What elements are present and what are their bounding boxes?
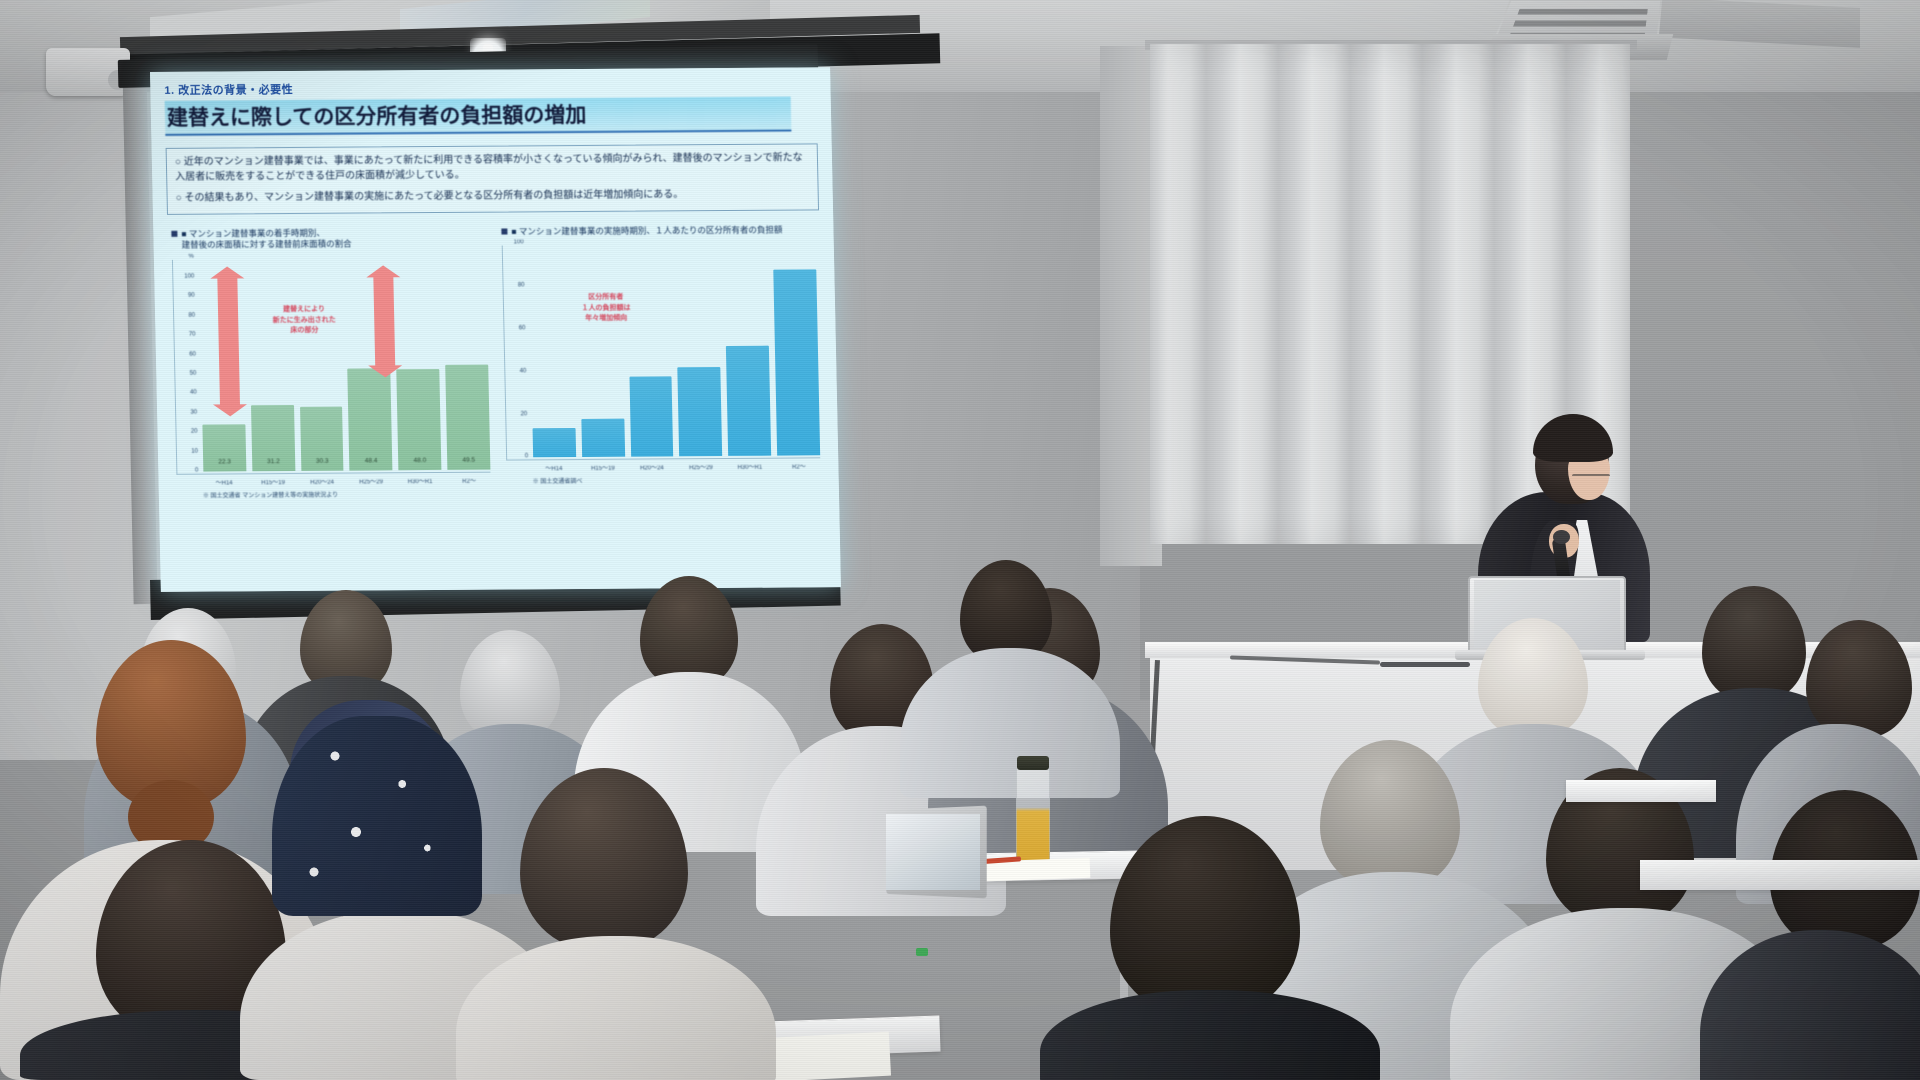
red-arrow-left (217, 278, 240, 406)
chart-1-bar: 48.4 (348, 368, 393, 471)
chart-1-plot: % 100 90 80 70 60 50 40 30 20 10 0 (172, 258, 491, 475)
audience-desk (1640, 860, 1920, 890)
chart-floor-area-ratio: ■ マンション建替事業の着手時期別、 建替後の床面積に対する建替前床面積の割合 … (171, 226, 491, 502)
slide-bullet-1: ○ 近年のマンション建替事業では、事業にあたって新たに利用できる容積率が小さくな… (175, 151, 810, 184)
audience-laptop-screen (886, 814, 980, 890)
audience-desk (1566, 780, 1716, 802)
slide-bullet-box: ○ 近年のマンション建替事業では、事業にあたって新たに利用できる容積率が小さくな… (166, 143, 819, 214)
bullet-square-icon (501, 228, 507, 234)
slide-title: 建替えに際しての区分所有者の負担額の増加 (165, 97, 792, 136)
chart-1-heading: ■ マンション建替事業の着手時期別、 建替後の床面積に対する建替前床面積の割合 (171, 226, 486, 252)
chart-2-bar (581, 419, 625, 457)
chart-2-xaxis: ～H14 H15～19 H20～24 H25～29 H30～R1 R2～ (506, 462, 820, 473)
projection-screen: 1. 改正法の背景・必要性 建替えに際しての区分所有者の負担額の増加 ○ 近年の… (150, 67, 841, 592)
chart-2-bar (629, 376, 674, 457)
red-arrow-right (373, 277, 395, 367)
tea-bottle-cap (1017, 756, 1049, 770)
chart-1-bar: 49.5 (445, 365, 490, 470)
chart-2-bar (773, 269, 820, 456)
seminar-room-photo: 1. 改正法の背景・必要性 建替えに際しての区分所有者の負担額の増加 ○ 近年の… (0, 0, 1920, 1080)
glasses-icon (1572, 474, 1610, 482)
bullet-square-icon (171, 230, 177, 236)
slide-charts: ■ マンション建替事業の着手時期別、 建替後の床面積に対する建替前床面積の割合 … (167, 224, 825, 502)
chart-2-plot: 100 80 60 40 20 0 区分所有者 １人 (502, 244, 821, 461)
presentation-slide: 1. 改正法の背景・必要性 建替えに際しての区分所有者の負担額の増加 ○ 近年の… (150, 67, 841, 592)
patterned-shirt (272, 716, 482, 916)
chart-2-yaxis: 100 80 60 40 20 0 (503, 240, 532, 460)
chart-2-callout: 区分所有者 １人の負担額は 年々増加傾向 (552, 293, 661, 325)
chart-2-footnote: ※ 国土交通省調べ (507, 477, 821, 488)
chart-1-callout: 建替えにより 新たに生み出された 床の部分 (248, 305, 361, 337)
audience-laptop-indicator (916, 948, 928, 956)
chart-2-bar (678, 367, 723, 456)
chart-2-heading: ■ マンション建替事業の実施時期別、１人あたりの区分所有者の負担額 (501, 224, 815, 238)
cable (1380, 662, 1470, 667)
chart-1-footnote: ※ 国土交通省 マンション建替え等の実施状況より (177, 491, 491, 502)
chart-2-bar (726, 346, 771, 457)
slide-eyebrow: 1. 改正法の背景・必要性 (164, 77, 816, 98)
chart-owner-burden: ■ マンション建替事業の実施時期別、１人あたりの区分所有者の負担額 100 80… (501, 224, 821, 500)
tea-bottle (1016, 766, 1050, 874)
chart-2-bar (533, 428, 576, 458)
chart-1-bar: 48.0 (397, 368, 442, 470)
chart-1-bar: 22.3 (202, 424, 246, 472)
chart-1-bar: 30.3 (300, 407, 344, 472)
chart-1-yaxis: % 100 90 80 70 60 50 40 30 20 10 0 (173, 254, 202, 474)
microphone-head-icon (1553, 530, 1570, 544)
chart-1-xaxis: ～H14 H15～19 H20～24 H25～29 H30～R1 R2～ (177, 476, 491, 487)
chart-1-bar: 31.2 (251, 405, 295, 471)
slide-bullet-2: ○ その結果もあり、マンション建替事業の実施にあたって必要となる区分所有者の負担… (176, 187, 810, 206)
